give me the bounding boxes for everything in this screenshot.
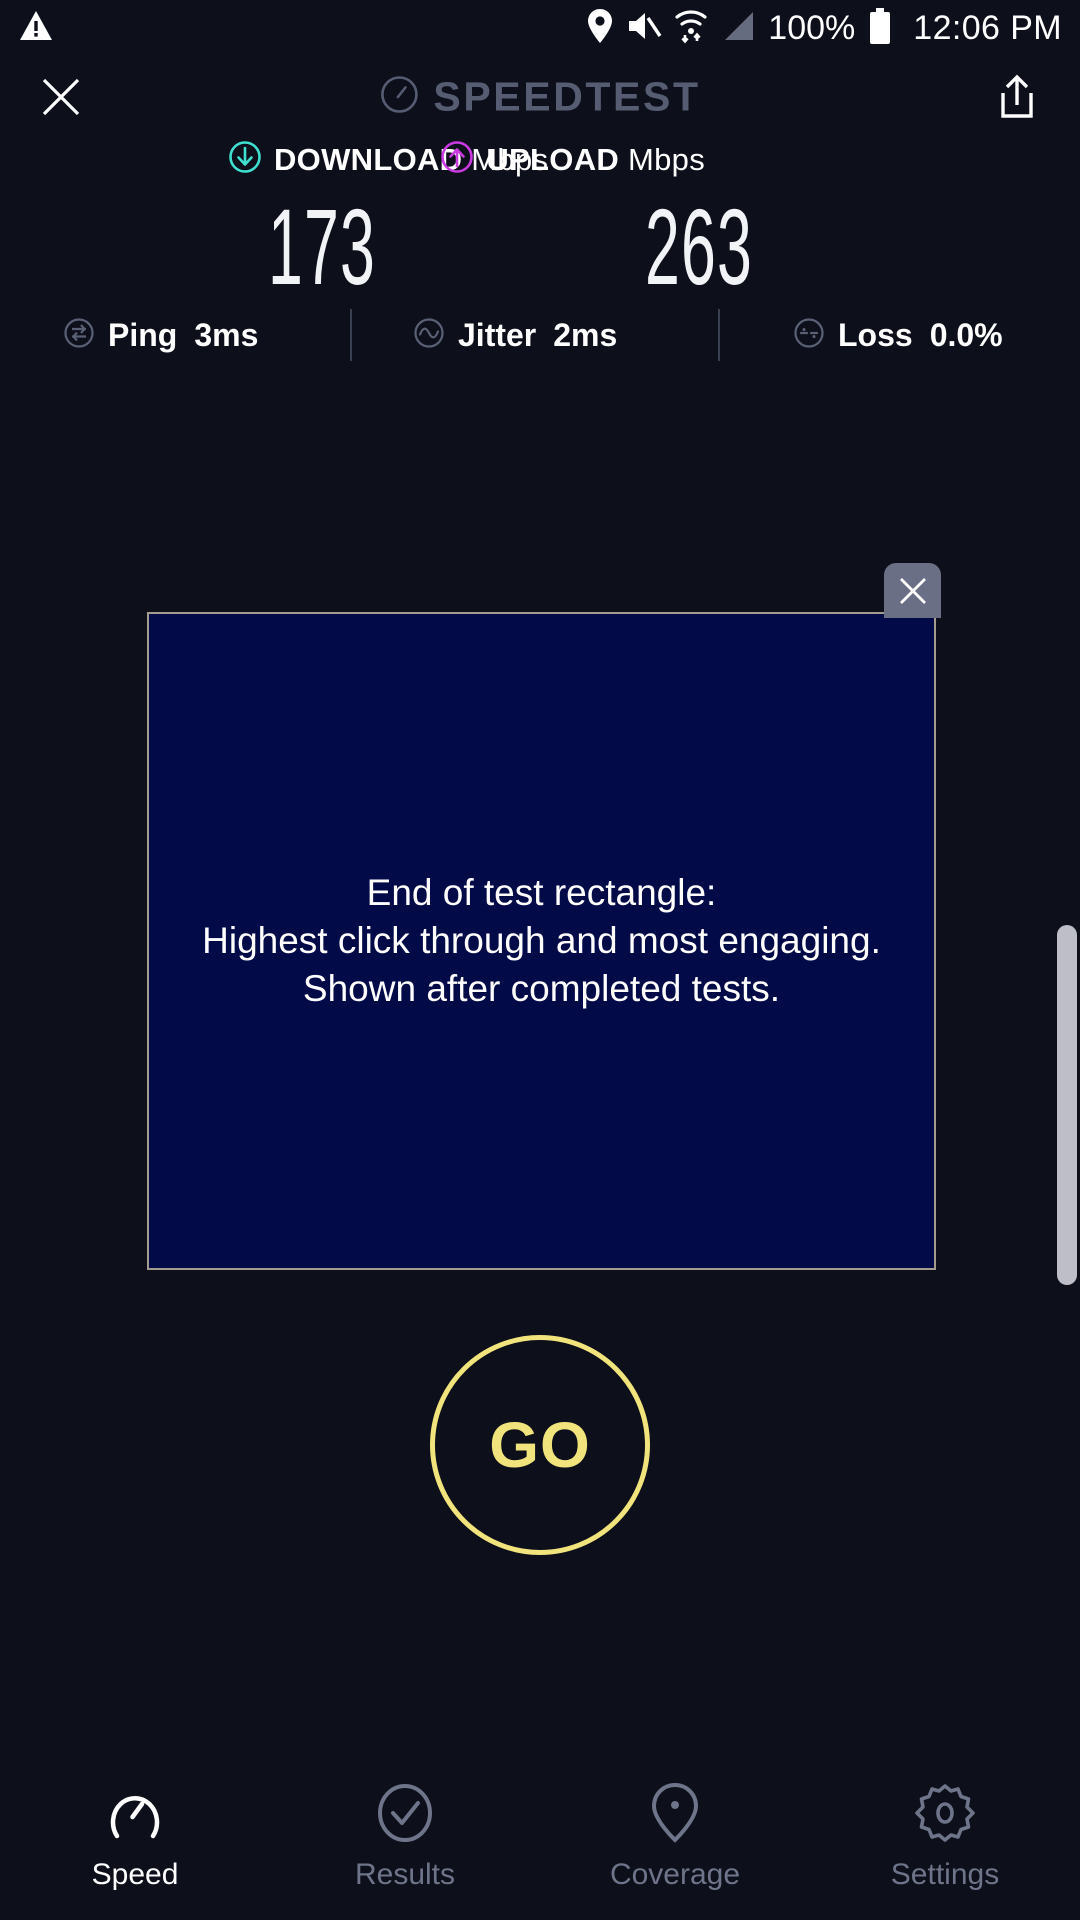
loss-icon [792,316,826,355]
ping-value: 3ms [194,317,258,354]
ad-close-icon [896,574,930,608]
jitter-stat: Jitter 2ms [412,316,617,355]
battery-icon [867,7,893,50]
battery-percent-label: 100% [768,9,855,48]
advertisement-banner[interactable]: End of test rectangle: Highest click thr… [147,612,936,1270]
upload-value: 263 [645,192,753,302]
status-bar-left [18,9,54,48]
nav-label-settings: Settings [891,1858,999,1892]
cell-signal-icon [720,10,756,47]
check-circle-icon [375,1782,435,1844]
location-icon [586,8,614,49]
jitter-label: Jitter [458,317,536,354]
metric-headers-row: DOWNLOAD Mbps UPLOAD Mbps [0,140,1080,186]
share-icon [995,73,1039,121]
download-value: 173 [268,192,376,302]
share-button[interactable] [986,66,1048,128]
jitter-value: 2ms [553,317,617,354]
upload-header: UPLOAD Mbps [440,140,705,179]
nav-label-speed: Speed [92,1858,179,1892]
loss-stat: Loss 0.0% [792,316,1003,355]
nav-item-coverage[interactable]: Coverage [540,1760,810,1920]
stats-divider-1 [350,309,352,361]
network-stats-row: Ping 3ms Jitter 2ms [0,300,1080,370]
brand-logo: SPEEDTEST [379,74,700,121]
page-scrollbar-thumb[interactable] [1057,925,1077,1285]
nav-item-settings[interactable]: Settings [810,1760,1080,1920]
close-screen-button[interactable] [30,66,92,128]
loss-label: Loss [838,317,913,354]
upload-label: UPLOAD Mbps [486,142,705,178]
ad-text: End of test rectangle: Highest click thr… [202,869,881,1013]
loss-value: 0.0% [930,317,1003,354]
status-bar-right: 100% 12:06 PM [586,7,1062,50]
stats-divider-2 [718,309,720,361]
speedtest-app-screen: 100% 12:06 PM SPEEDTEST [0,0,1080,1920]
ping-icon [62,316,96,355]
ping-label: Ping [108,317,177,354]
clock-label: 12:06 PM [913,9,1062,48]
nav-label-coverage: Coverage [610,1858,740,1892]
mute-icon [626,10,662,47]
status-bar: 100% 12:06 PM [0,0,1080,56]
nav-item-speed[interactable]: Speed [0,1760,270,1920]
go-button[interactable]: GO [430,1335,650,1555]
speedometer-icon [379,75,419,120]
close-icon [39,75,83,119]
wifi-icon [674,8,708,49]
ping-stat: Ping 3ms [62,316,258,355]
upload-arrow-circle-icon [440,140,474,179]
bottom-navigation: Speed Results Coverage [0,1760,1080,1920]
results-panel: DOWNLOAD Mbps UPLOAD Mbps 173 263 [0,140,1080,302]
speedometer-icon [105,1782,165,1844]
metric-values-row: 173 263 [0,192,1080,302]
app-title: SPEEDTEST [433,74,700,121]
download-arrow-circle-icon [228,140,262,179]
ad-close-button[interactable] [884,563,941,618]
go-button-label: GO [489,1408,591,1482]
gear-icon [915,1782,975,1844]
app-header: SPEEDTEST [0,56,1080,138]
warning-triangle-icon [18,9,54,48]
nav-label-results: Results [355,1858,455,1892]
nav-item-results[interactable]: Results [270,1760,540,1920]
map-pin-icon [650,1782,700,1844]
jitter-icon [412,316,446,355]
